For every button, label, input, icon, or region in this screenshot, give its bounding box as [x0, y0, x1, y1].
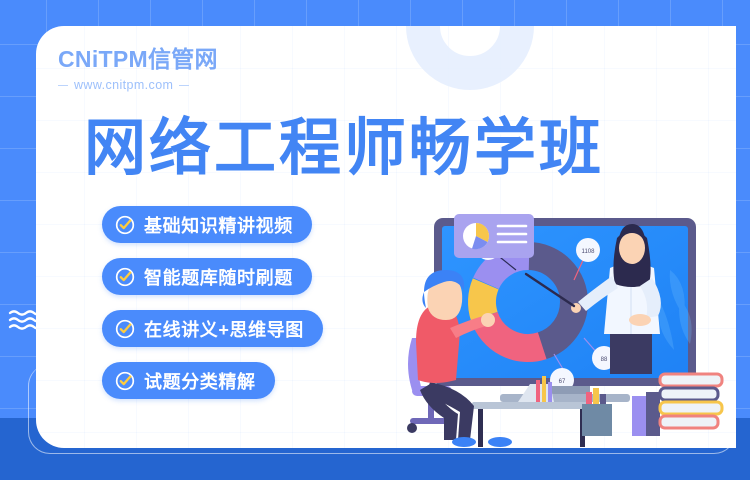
- check-circle-icon: [115, 319, 135, 339]
- logo-dash-left: [58, 85, 68, 86]
- presentation-card: [454, 214, 534, 258]
- logo-dash-right: [179, 85, 189, 86]
- check-circle-icon: [115, 215, 135, 235]
- logo-website: www.cnitpm.com: [58, 78, 218, 92]
- ring-decoration: [406, 26, 534, 90]
- feature-label: 基础知识精讲视频: [144, 212, 293, 238]
- feature-pill-4[interactable]: 试题分类精解: [102, 362, 275, 399]
- desk-top: [472, 402, 590, 409]
- desk-leg-left: [478, 409, 483, 447]
- promo-banner: CNiTPM信管网 www.cnitpm.com 网络工程师畅学班 基础知识精讲…: [0, 0, 750, 480]
- page-title: 网络工程师畅学班: [84, 116, 604, 183]
- feature-list: 基础知识精讲视频 智能题库随时刷题 在线讲义+思: [102, 206, 323, 399]
- feature-label: 试题分类精解: [144, 368, 256, 394]
- website-url: www.cnitpm.com: [74, 78, 173, 92]
- feature-label: 在线讲义+思维导图: [144, 316, 304, 342]
- check-circle-icon: [115, 371, 135, 391]
- check-circle-icon: [115, 267, 135, 287]
- feature-pill-2[interactable]: 智能题库随时刷题: [102, 258, 312, 295]
- feature-label: 智能题库随时刷题: [144, 264, 293, 290]
- content-card: CNiTPM信管网 www.cnitpm.com 网络工程师畅学班 基础知识精讲…: [36, 26, 736, 448]
- feature-pill-1[interactable]: 基础知识精讲视频: [102, 206, 312, 243]
- svg-text:1108: 1108: [582, 249, 596, 255]
- online-class-illustration: 233 1108 88 67: [388, 196, 728, 448]
- logo-text: CNiTPM信管网: [58, 48, 218, 71]
- svg-text:88: 88: [601, 357, 608, 363]
- feature-pill-3[interactable]: 在线讲义+思维导图: [102, 310, 323, 347]
- brand-logo[interactable]: CNiTPM信管网 www.cnitpm.com: [58, 48, 218, 92]
- svg-text:67: 67: [559, 379, 566, 385]
